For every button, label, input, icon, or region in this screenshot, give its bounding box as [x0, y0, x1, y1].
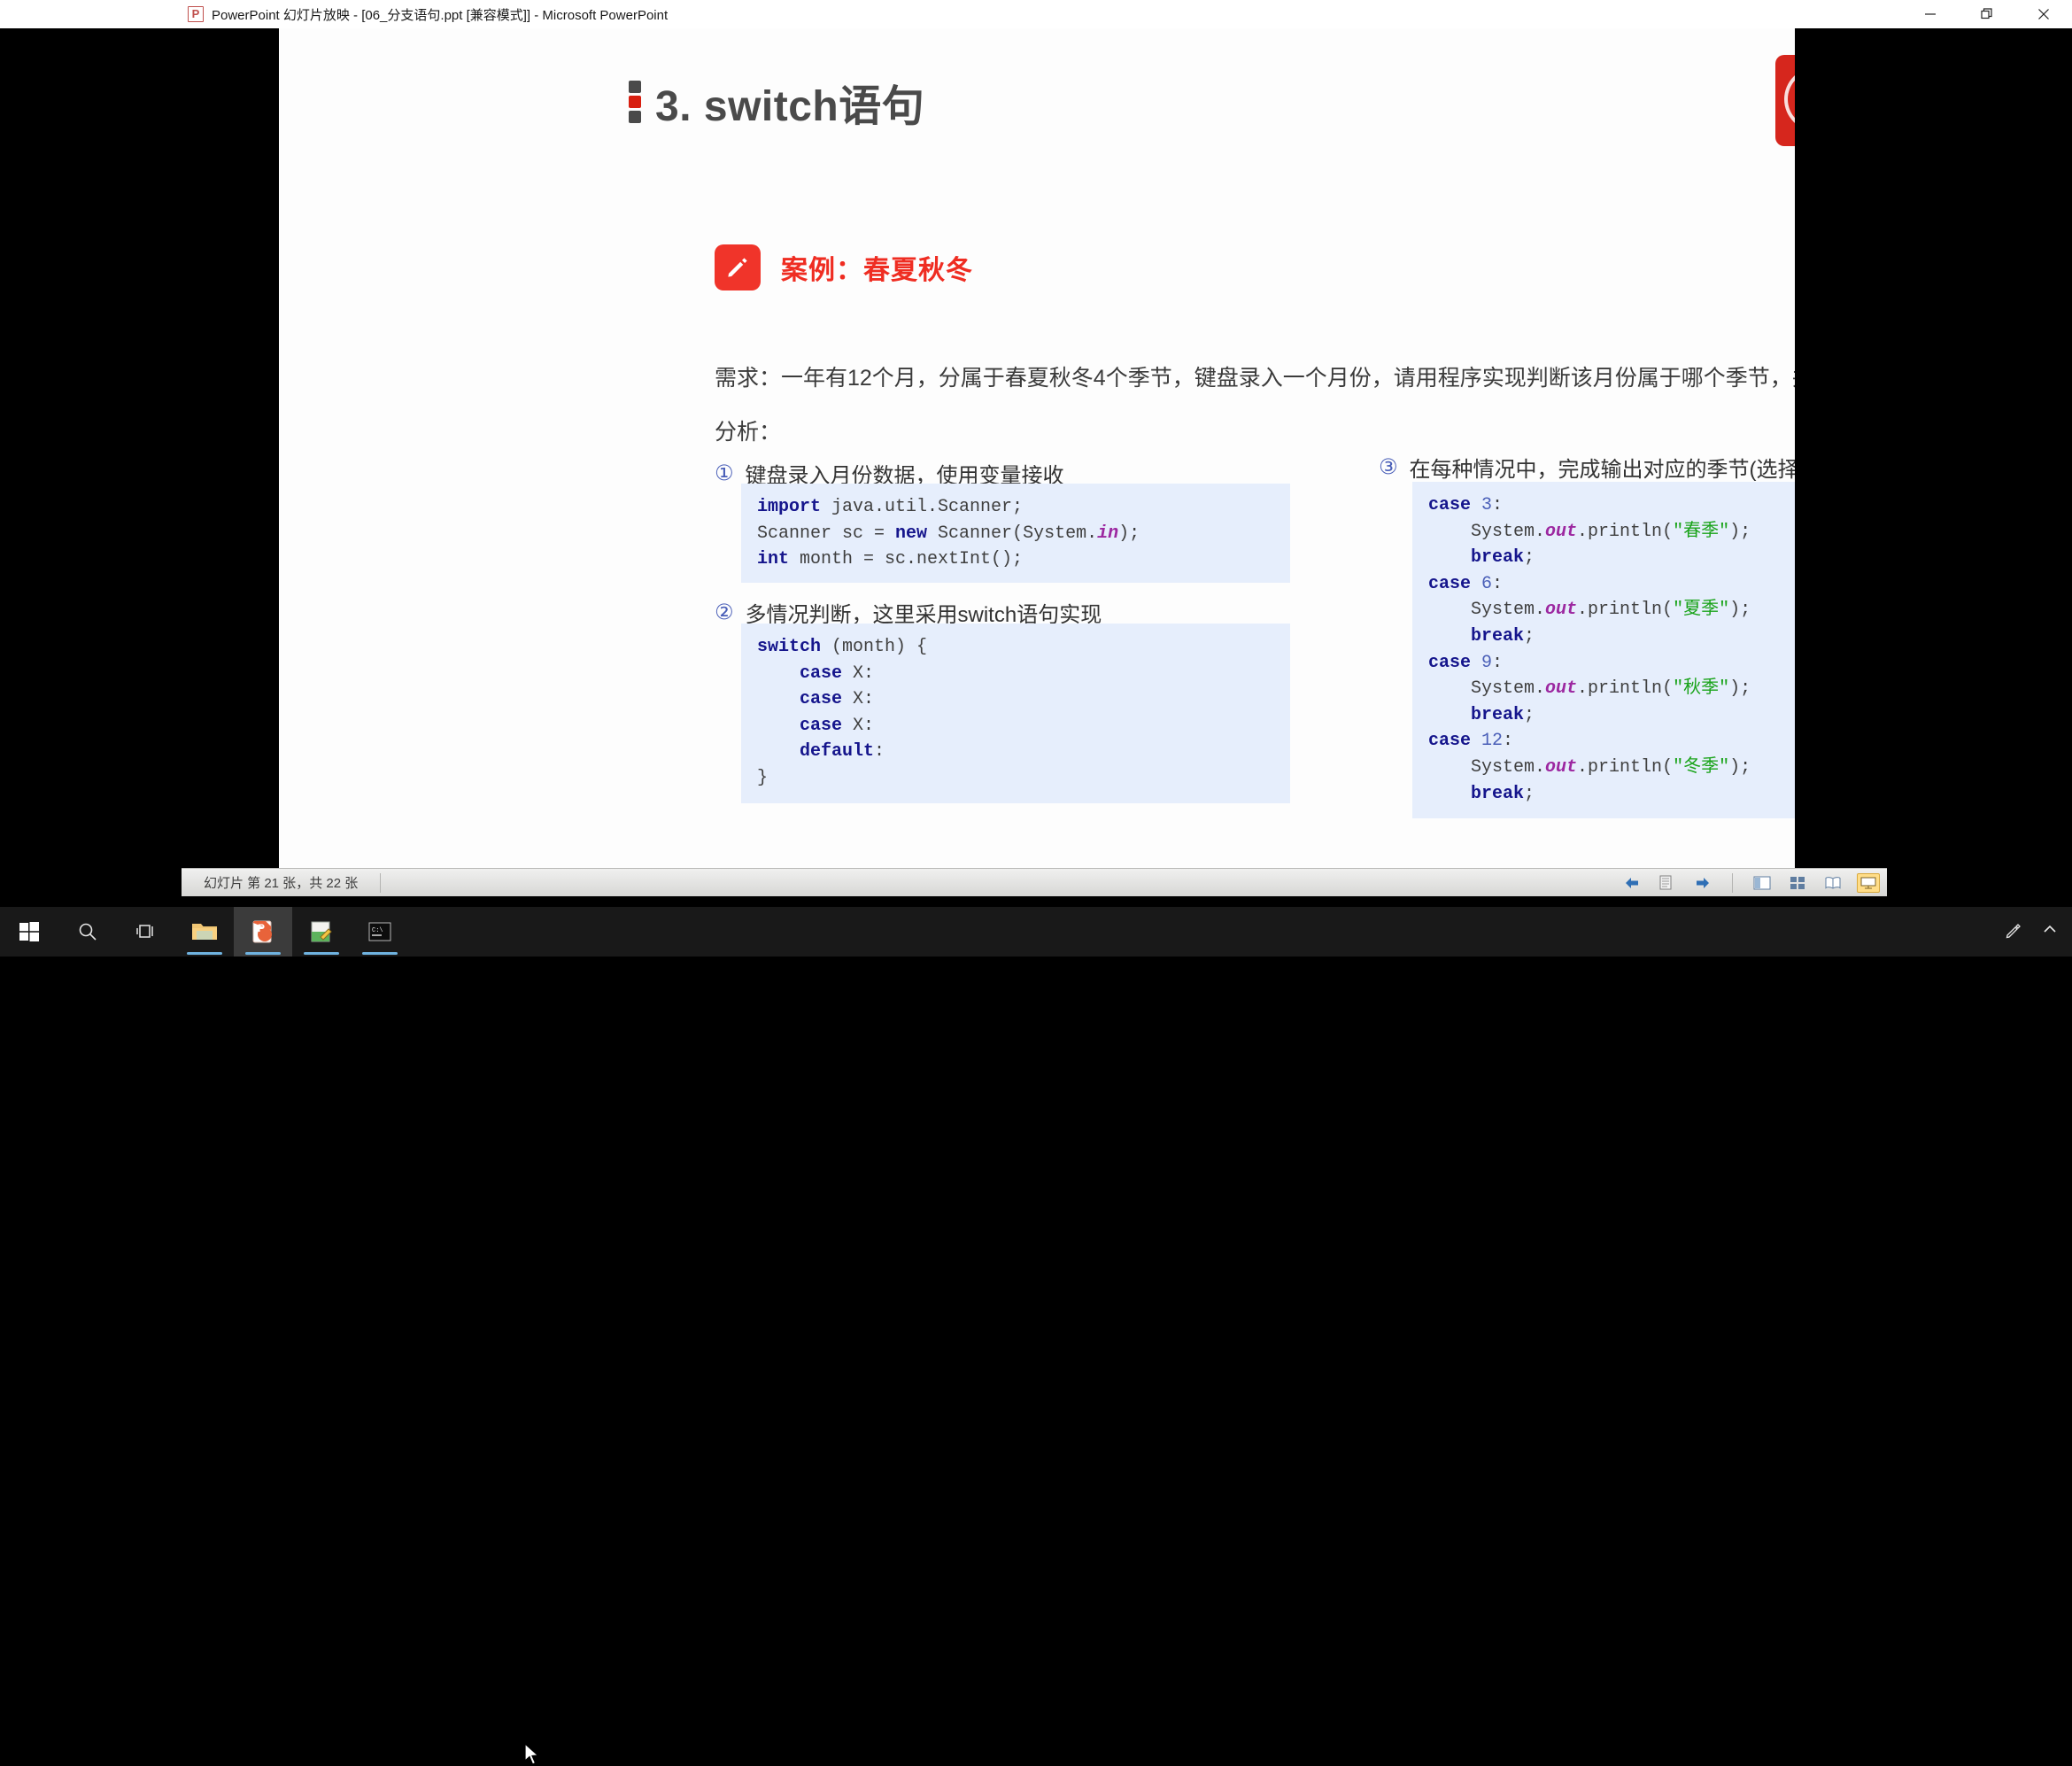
itheima-logo: 黑马程序员 www.itheima.com 传智播客旗下高端IT教育品牌: [1775, 55, 1795, 146]
code-token: [1428, 547, 1471, 568]
code-token: .println(: [1577, 522, 1673, 542]
code-token: :: [874, 741, 885, 762]
page-title: 3. switch语句: [655, 71, 924, 133]
code-token: }: [757, 768, 768, 788]
title-marker-icon: [629, 81, 641, 123]
code-token: int: [757, 549, 789, 569]
code-token: "春季": [1673, 522, 1729, 542]
code-block-seasons: case 3: System.out.println("春季"); break;…: [1412, 482, 1795, 818]
code-token: default: [800, 741, 874, 762]
normal-view-button[interactable]: [1751, 873, 1774, 893]
titlebar-left: P PowerPoint 幻灯片放映 - [06_分支语句.ppt [兼容模式]…: [0, 5, 668, 24]
code-token: 3: [1481, 495, 1492, 515]
slide-canvas[interactable]: 3. switch语句 黑马程序员 www.itheima.com 传智播客旗下…: [279, 28, 1795, 868]
windows-taskbar: P C:\: [0, 907, 2072, 957]
code-token: System.: [1428, 522, 1545, 542]
status-bar-inner: 幻灯片 第 21 张，共 22 张: [182, 868, 1887, 896]
pen-tray-icon[interactable]: [2005, 921, 2022, 943]
step-item-3: ③ 在每种情况中，完成输出对应的季节(选择了几个): [1379, 452, 1795, 483]
code-token: :: [1492, 653, 1503, 673]
status-bar: 幻灯片 第 21 张，共 22 张: [0, 868, 2072, 907]
step-number-1: ①: [715, 461, 734, 486]
slide-counter: 幻灯片 第 21 张，共 22 张: [182, 873, 358, 892]
code-token: [1471, 653, 1481, 673]
code-token: .println(: [1577, 678, 1673, 699]
code-token: case: [800, 663, 842, 684]
code-token: );: [1729, 757, 1751, 778]
code-token: out: [1545, 678, 1577, 699]
code-token: [757, 689, 800, 709]
powerpoint-button[interactable]: P: [234, 907, 292, 957]
code-token: [757, 741, 800, 762]
window-title: PowerPoint 幻灯片放映 - [06_分支语句.ppt [兼容模式]] …: [212, 5, 668, 24]
code-token: ;: [1524, 705, 1535, 725]
code-token: break: [1471, 626, 1524, 647]
logo-circle-icon: [1784, 67, 1795, 131]
window-titlebar: P PowerPoint 幻灯片放映 - [06_分支语句.ppt [兼容模式]…: [0, 0, 2072, 28]
code-token: break: [1471, 547, 1524, 568]
system-tray: [2005, 907, 2072, 957]
slide-sorter-button[interactable]: [1786, 873, 1809, 893]
file-explorer-button[interactable]: [175, 907, 234, 957]
code-token: [1428, 626, 1471, 647]
code-token: switch: [757, 637, 821, 657]
slideshow-stage[interactable]: 3. switch语句 黑马程序员 www.itheima.com 传智播客旗下…: [0, 28, 2072, 868]
step-number-2: ②: [715, 600, 734, 625]
case-title: 案例：春夏秋冬: [781, 248, 973, 287]
code-token: ;: [1524, 626, 1535, 647]
code-token: out: [1545, 757, 1577, 778]
code-token: .println(: [1577, 600, 1673, 620]
code-token: case: [800, 716, 842, 736]
status-divider: [380, 873, 381, 893]
code-token: );: [1118, 523, 1140, 544]
code-token: 9: [1481, 653, 1492, 673]
slide-title-row: 3. switch语句: [629, 71, 924, 133]
code-token: [1428, 705, 1471, 725]
code-token: System.: [1428, 600, 1545, 620]
status-divider-2: [1732, 873, 1733, 893]
code-token: );: [1729, 522, 1751, 542]
code-token: "冬季": [1673, 757, 1729, 778]
code-token: System.: [1428, 678, 1545, 699]
slide-options-button[interactable]: [1656, 873, 1679, 893]
code-token: [1471, 574, 1481, 594]
analysis-label: 分析：: [715, 414, 781, 446]
code-token: break: [1471, 784, 1524, 804]
window-controls: [1902, 0, 2072, 28]
restore-button[interactable]: [1959, 0, 2015, 28]
code-token: ;: [1524, 547, 1535, 568]
reading-view-button[interactable]: [1821, 873, 1844, 893]
code-token: Scanner(System.: [927, 523, 1097, 544]
editor-button[interactable]: [292, 907, 351, 957]
mouse-cursor: [524, 1743, 540, 1766]
code-token: case: [1428, 574, 1471, 594]
next-slide-button[interactable]: [1691, 873, 1714, 893]
code-block-scanner: import java.util.Scanner; Scanner sc = n…: [741, 484, 1290, 583]
code-token: break: [1471, 705, 1524, 725]
code-token: java.util.Scanner;: [821, 497, 1023, 517]
code-token: case: [1428, 731, 1471, 751]
code-token: "夏季": [1673, 600, 1729, 620]
terminal-button[interactable]: C:\: [351, 907, 409, 957]
code-token: System.: [1428, 757, 1545, 778]
code-token: [757, 663, 800, 684]
search-button[interactable]: [58, 907, 117, 957]
code-token: case: [1428, 495, 1471, 515]
code-token: month = sc.nextInt();: [789, 549, 1023, 569]
code-token: Scanner sc =: [757, 523, 895, 544]
step-number-3: ③: [1379, 454, 1398, 480]
code-token: 12: [1481, 731, 1503, 751]
code-token: :: [1492, 574, 1503, 594]
code-block-switch-skeleton: switch (month) { case X: case X: case X:…: [741, 624, 1290, 803]
status-bar-controls: [1620, 869, 1880, 897]
code-token: X:: [842, 663, 874, 684]
previous-slide-button[interactable]: [1620, 873, 1643, 893]
code-token: 6: [1481, 574, 1492, 594]
requirement-text: 需求：一年有12个月，分属于春夏秋冬4个季节，键盘录入一个月份，请用程序实现判断…: [715, 360, 1795, 392]
svg-text:C:\: C:\: [372, 927, 383, 934]
code-token: [757, 716, 800, 736]
code-token: );: [1729, 600, 1751, 620]
code-token: new: [895, 523, 927, 544]
code-token: ;: [1524, 784, 1535, 804]
case-header: 案例：春夏秋冬: [715, 244, 973, 290]
code-token: [1471, 495, 1481, 515]
step-label-3: 在每种情况中，完成输出对应的季节(选择了几个): [1410, 452, 1795, 483]
svg-text:P: P: [258, 922, 265, 934]
code-token: import: [757, 497, 821, 517]
pencil-icon: [715, 244, 761, 290]
task-view-button[interactable]: [117, 907, 175, 957]
code-token: (month) {: [821, 637, 927, 657]
powerpoint-app-icon: P: [188, 6, 204, 22]
code-token: case: [1428, 653, 1471, 673]
show-hidden-icons-button[interactable]: [2042, 922, 2058, 942]
code-token: "秋季": [1673, 678, 1729, 699]
code-token: case: [800, 689, 842, 709]
code-token: [1471, 731, 1481, 751]
code-token: :: [1492, 495, 1503, 515]
close-button[interactable]: [2015, 0, 2072, 28]
code-token: out: [1545, 522, 1577, 542]
code-token: in: [1097, 523, 1118, 544]
code-token: .println(: [1577, 757, 1673, 778]
slideshow-view-button[interactable]: [1857, 873, 1880, 893]
start-button[interactable]: [0, 907, 58, 957]
minimize-button[interactable]: [1902, 0, 1959, 28]
code-token: X:: [842, 716, 874, 736]
code-token: X:: [842, 689, 874, 709]
code-token: );: [1729, 678, 1751, 699]
code-token: out: [1545, 600, 1577, 620]
code-token: :: [1503, 731, 1513, 751]
code-token: [1428, 784, 1471, 804]
